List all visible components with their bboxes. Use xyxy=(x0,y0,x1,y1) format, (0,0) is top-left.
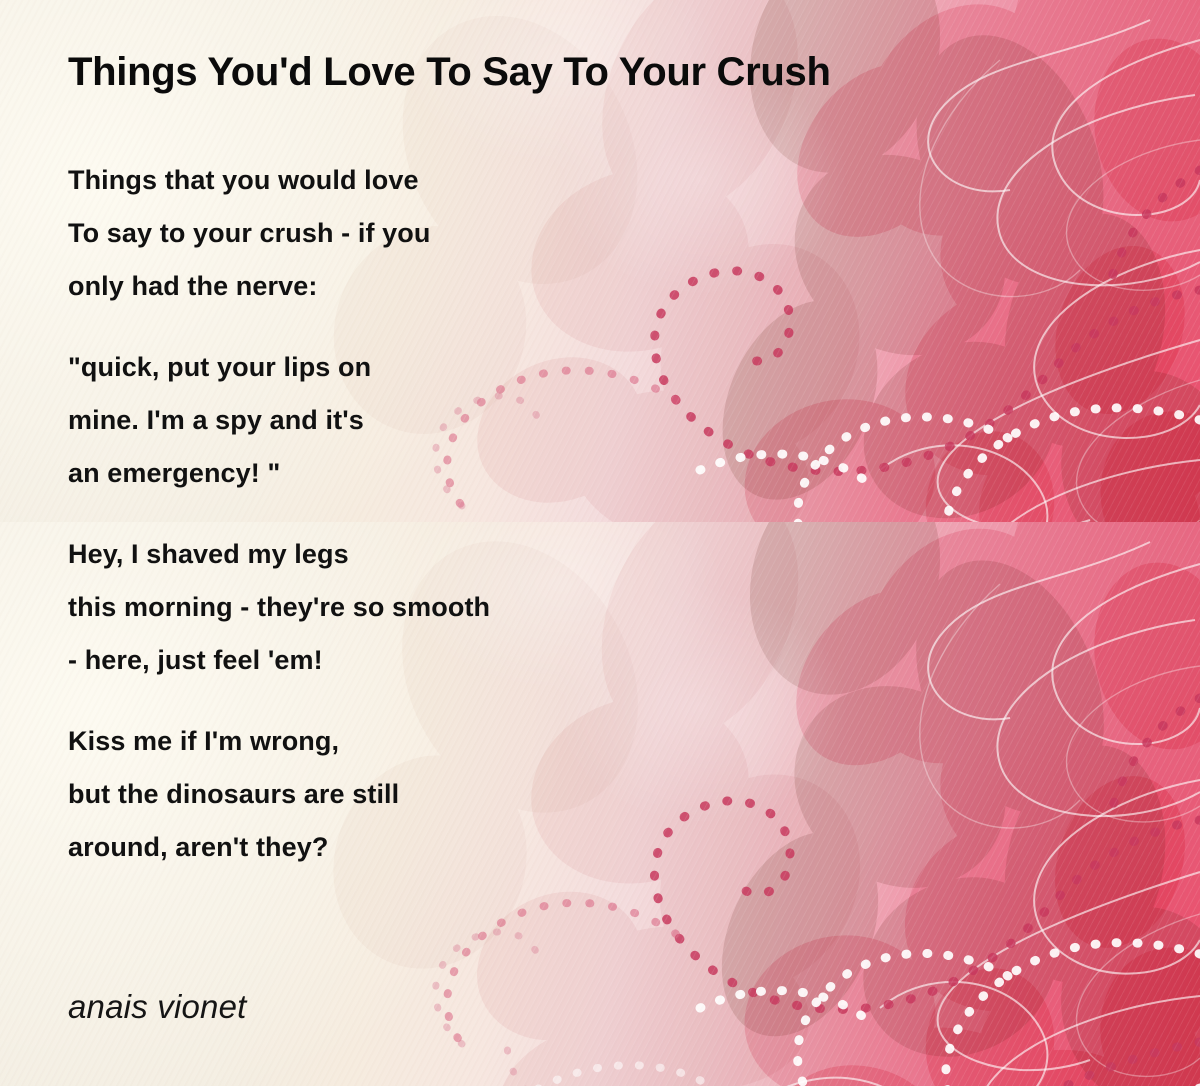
poem-stanza: Hey, I shaved my legs this morning - the… xyxy=(68,528,828,687)
poem-line: To say to your crush - if you xyxy=(68,207,828,260)
poem-line: - here, just feel 'em! xyxy=(68,634,828,687)
poem-stanza: Kiss me if I'm wrong, but the dinosaurs … xyxy=(68,715,828,874)
poem-line: around, aren't they? xyxy=(68,821,828,874)
poem-stanza: Things that you would love To say to you… xyxy=(68,154,828,313)
poem-author: anais vionet xyxy=(68,988,247,1026)
poem-line: but the dinosaurs are still xyxy=(68,768,828,821)
poem-line: Things that you would love xyxy=(68,154,828,207)
poem-body: Things that you would love To say to you… xyxy=(68,154,828,874)
poem-line: Kiss me if I'm wrong, xyxy=(68,715,828,768)
poem-line: only had the nerve: xyxy=(68,260,828,313)
poem-line: Hey, I shaved my legs xyxy=(68,528,828,581)
poem-stanza: "quick, put your lips on mine. I'm a spy… xyxy=(68,341,828,500)
poem-line: this morning - they're so smooth xyxy=(68,581,828,634)
poem-image: Things You'd Love To Say To Your Crush T… xyxy=(0,0,1200,1086)
poem-line: mine. I'm a spy and it's xyxy=(68,394,828,447)
poem-line: "quick, put your lips on xyxy=(68,341,828,394)
poem-content: Things You'd Love To Say To Your Crush T… xyxy=(0,0,1200,1086)
page-title: Things You'd Love To Say To Your Crush xyxy=(68,50,831,95)
poem-line: an emergency! " xyxy=(68,447,828,500)
